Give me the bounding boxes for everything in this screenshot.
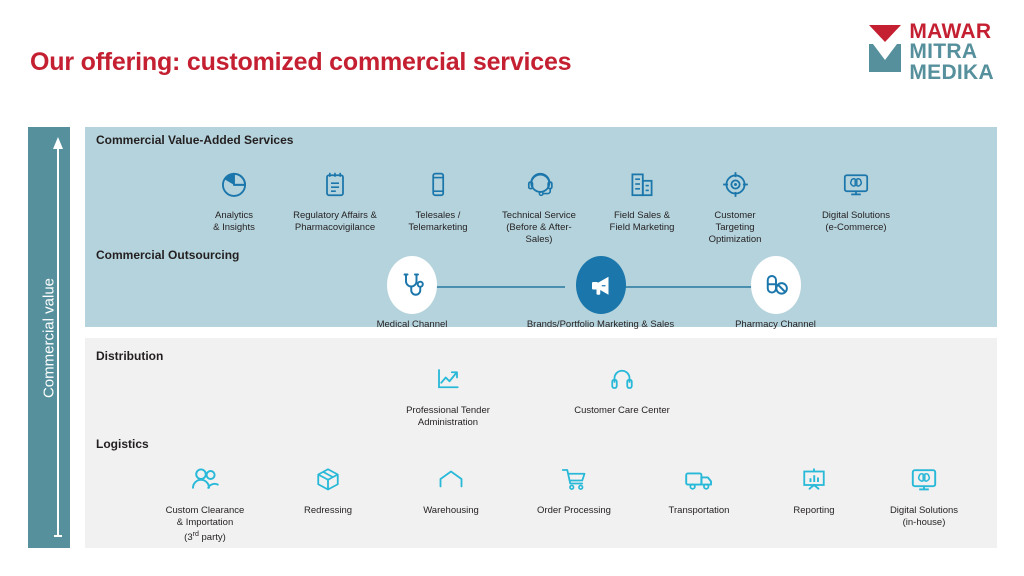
item-label: Analytics & Insights xyxy=(213,210,255,234)
clipboard-notepad-icon xyxy=(319,163,351,205)
item-professional-tender-administration[interactable]: Professional Tender Administration xyxy=(396,358,500,429)
item-label: Reporting xyxy=(793,505,834,517)
node-medical-channel[interactable]: Medical Channel xyxy=(342,256,482,330)
stethoscope-icon xyxy=(387,256,437,314)
item-digital-solutions-in-house[interactable]: Digital Solutions (in-house) xyxy=(874,458,974,529)
section-title-commercial-value-added-services: Commercial Value-Added Services xyxy=(96,133,293,147)
item-label: Custom Clearance& Importation(3rd party) xyxy=(166,505,245,544)
logo-wordmark: MAWAR MITRA MEDIKA xyxy=(909,22,994,83)
office-buildings-icon xyxy=(626,163,658,205)
item-warehousing[interactable]: Warehousing xyxy=(412,458,490,517)
headset-support-icon xyxy=(523,163,556,205)
item-label: Technical Service (Before & After- Sales… xyxy=(502,210,576,246)
item-technical-service[interactable]: Technical Service (Before & After- Sales… xyxy=(488,163,590,246)
item-label: Warehousing xyxy=(423,505,479,517)
item-customer-targeting-optimization[interactable]: Customer Targeting Optimization xyxy=(696,163,774,246)
delivery-truck-icon xyxy=(683,458,715,500)
section-title-distribution: Distribution xyxy=(96,349,163,363)
item-label: Transportation xyxy=(669,505,730,517)
node-brands-portfolio-marketing-sales[interactable]: Brands/Portfolio Marketing & Sales xyxy=(508,256,693,330)
brand-logo: MAWAR MITRA MEDIKA xyxy=(867,22,994,83)
item-label: Digital Solutions (in-house) xyxy=(890,505,958,529)
node-pharmacy-channel[interactable]: Pharmacy Channel xyxy=(683,256,868,330)
item-label: Telesales / Telemarketing xyxy=(408,210,467,234)
logo-line-3: MEDIKA xyxy=(909,63,994,83)
logo-line-1: MAWAR xyxy=(909,22,994,42)
headphones-icon xyxy=(607,358,637,400)
growth-chart-icon xyxy=(433,358,463,400)
item-order-processing[interactable]: Order Processing xyxy=(528,458,620,517)
item-label: Regulatory Affairs & Pharmacovigilance xyxy=(293,210,377,234)
node-label: Brands/Portfolio Marketing & Sales xyxy=(527,319,674,330)
item-label: Redressing xyxy=(304,505,352,517)
page-title: Our offering: customized commercial serv… xyxy=(30,48,571,77)
item-customer-care-center[interactable]: Customer Care Center xyxy=(560,358,684,417)
item-digital-solutions-ecommerce[interactable]: Digital Solutions (e-Commerce) xyxy=(806,163,906,234)
monitor-brain-icon xyxy=(840,163,872,205)
mobile-phone-icon xyxy=(422,163,454,205)
item-label: Customer Targeting Optimization xyxy=(709,210,762,246)
presentation-chart-icon xyxy=(799,458,829,500)
node-label: Medical Channel xyxy=(377,319,448,330)
item-label: Professional Tender Administration xyxy=(406,405,490,429)
item-label: Customer Care Center xyxy=(574,405,670,417)
shopping-cart-icon xyxy=(559,458,589,500)
item-field-sales-marketing[interactable]: Field Sales & Field Marketing xyxy=(596,163,688,234)
outsourcing-chain: Medical Channel Brands/Portfolio Marketi… xyxy=(85,256,997,334)
item-redressing[interactable]: Redressing xyxy=(290,458,366,517)
item-custom-clearance-importation[interactable]: Custom Clearance& Importation(3rd party) xyxy=(152,458,258,544)
target-crosshair-icon xyxy=(719,163,752,205)
node-label: Pharmacy Channel xyxy=(735,319,816,330)
monitor-brain-icon xyxy=(908,458,940,500)
item-label: Order Processing xyxy=(537,505,611,517)
pills-capsule-icon xyxy=(751,256,801,314)
item-transportation[interactable]: Transportation xyxy=(654,458,744,517)
item-label: Field Sales & Field Marketing xyxy=(610,210,675,234)
section-title-logistics: Logistics xyxy=(96,437,149,451)
warehouse-home-icon xyxy=(436,458,466,500)
item-reporting[interactable]: Reporting xyxy=(778,458,850,517)
megaphone-icon xyxy=(576,256,626,314)
two-people-icon xyxy=(189,458,221,500)
item-analytics-insights[interactable]: Analytics & Insights xyxy=(196,163,272,234)
item-telesales-telemarketing[interactable]: Telesales / Telemarketing xyxy=(399,163,477,234)
logo-line-2: MITRA xyxy=(909,42,994,62)
up-arrow-icon xyxy=(52,137,64,538)
commercial-value-axis: Commercial value xyxy=(28,127,70,548)
pie-chart-icon xyxy=(217,163,251,205)
item-label: Digital Solutions (e-Commerce) xyxy=(822,210,890,234)
triangle-chevron-mark-icon xyxy=(867,22,903,74)
package-box-icon xyxy=(313,458,343,500)
item-regulatory-affairs[interactable]: Regulatory Affairs & Pharmacovigilance xyxy=(277,163,393,234)
